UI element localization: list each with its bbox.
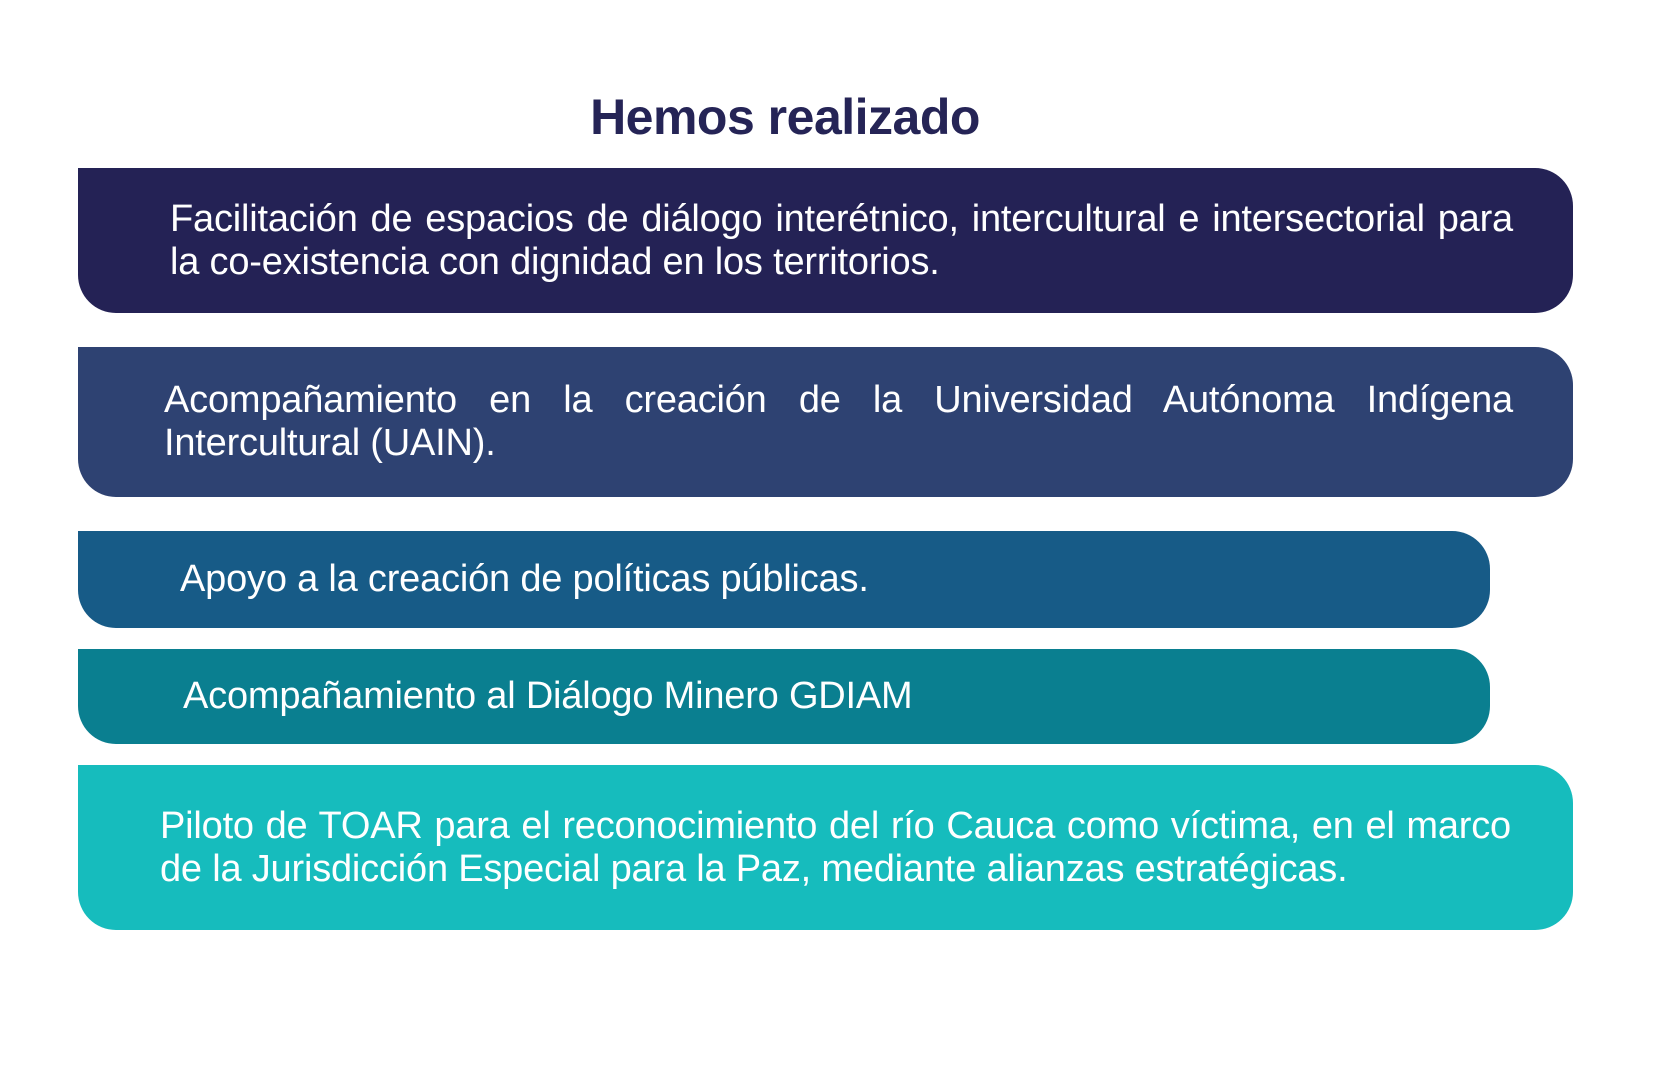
achievement-bar-1-text: Facilitación de espacios de diálogo inte… xyxy=(78,198,1573,283)
achievement-bar-2: Acompañamiento en la creación de la Univ… xyxy=(78,347,1573,497)
achievement-bar-4-text: Acompañamiento al Diálogo Minero GDIAM xyxy=(78,675,1490,718)
page-title: Hemos realizado xyxy=(0,88,1570,146)
achievement-bar-5: Piloto de TOAR para el reconocimiento de… xyxy=(78,765,1573,930)
achievement-bar-5-text: Piloto de TOAR para el reconocimiento de… xyxy=(78,805,1573,890)
achievement-bar-3: Apoyo a la creación de políticas pública… xyxy=(78,531,1490,628)
achievement-bar-1: Facilitación de espacios de diálogo inte… xyxy=(78,168,1573,313)
achievement-bar-3-text: Apoyo a la creación de políticas pública… xyxy=(78,558,1490,601)
slide-canvas: Hemos realizado Facilitación de espacios… xyxy=(0,0,1657,1081)
achievement-bar-4: Acompañamiento al Diálogo Minero GDIAM xyxy=(78,649,1490,744)
achievement-bar-2-text: Acompañamiento en la creación de la Univ… xyxy=(78,379,1573,464)
